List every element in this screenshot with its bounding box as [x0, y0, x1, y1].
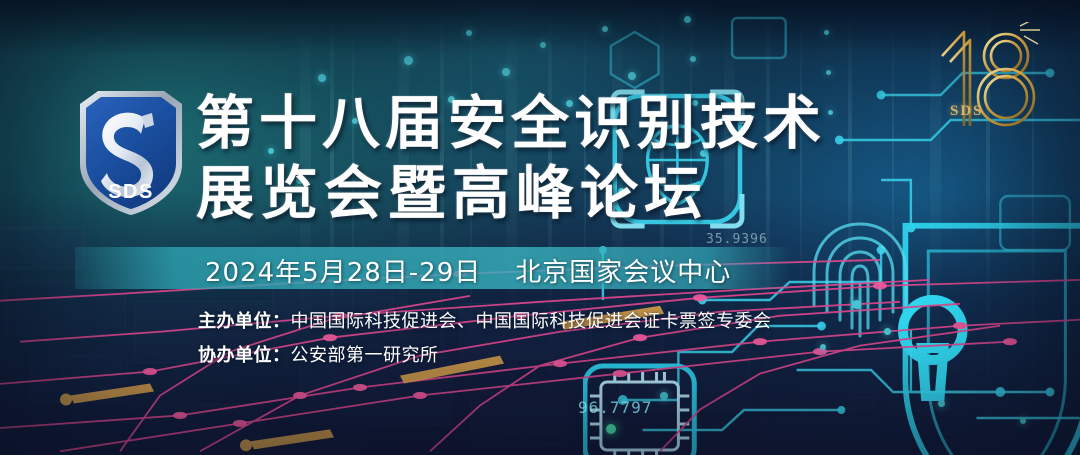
organizer-coorganizer: 协办单位：公安部第一研究所: [198, 341, 439, 367]
anniversary-caption: SDS: [950, 103, 984, 120]
organizer-coorganizer-label: 协办单位：: [198, 345, 291, 366]
event-date-venue: 2024年5月28日-29日北京国家会议中心: [205, 252, 731, 289]
title-line-1: 第十八届安全识别技术: [196, 88, 896, 158]
organizer-host-label: 主办单位：: [198, 311, 291, 332]
event-venue: 北京国家会议中心: [515, 258, 731, 288]
event-banner: 35.9396 96.7797 SDS: [0, 0, 1080, 455]
background-number-lower: 96.7797: [578, 398, 652, 417]
page-title: 第十八届安全识别技术 展览会暨高峰论坛: [196, 88, 896, 228]
title-line-2: 展览会暨高峰论坛: [196, 158, 896, 228]
organizer-coorganizer-value: 公安部第一研究所: [291, 345, 439, 366]
sds-shield-logo: SDS: [72, 86, 190, 218]
organizer-host: 主办单位：中国国际科技促进会、中国国际科技促进会证卡票签专委会: [198, 307, 772, 333]
anniversary-18-icon: [924, 22, 1044, 134]
background-number-upper: 35.9396: [706, 232, 768, 247]
organizer-host-value: 中国国际科技促进会、中国国际科技促进会证卡票签专委会: [291, 311, 772, 332]
event-date: 2024年5月28日-29日: [205, 258, 481, 288]
anniversary-mark: SDS: [924, 22, 1044, 134]
sds-logo-caption: SDS: [108, 181, 154, 203]
